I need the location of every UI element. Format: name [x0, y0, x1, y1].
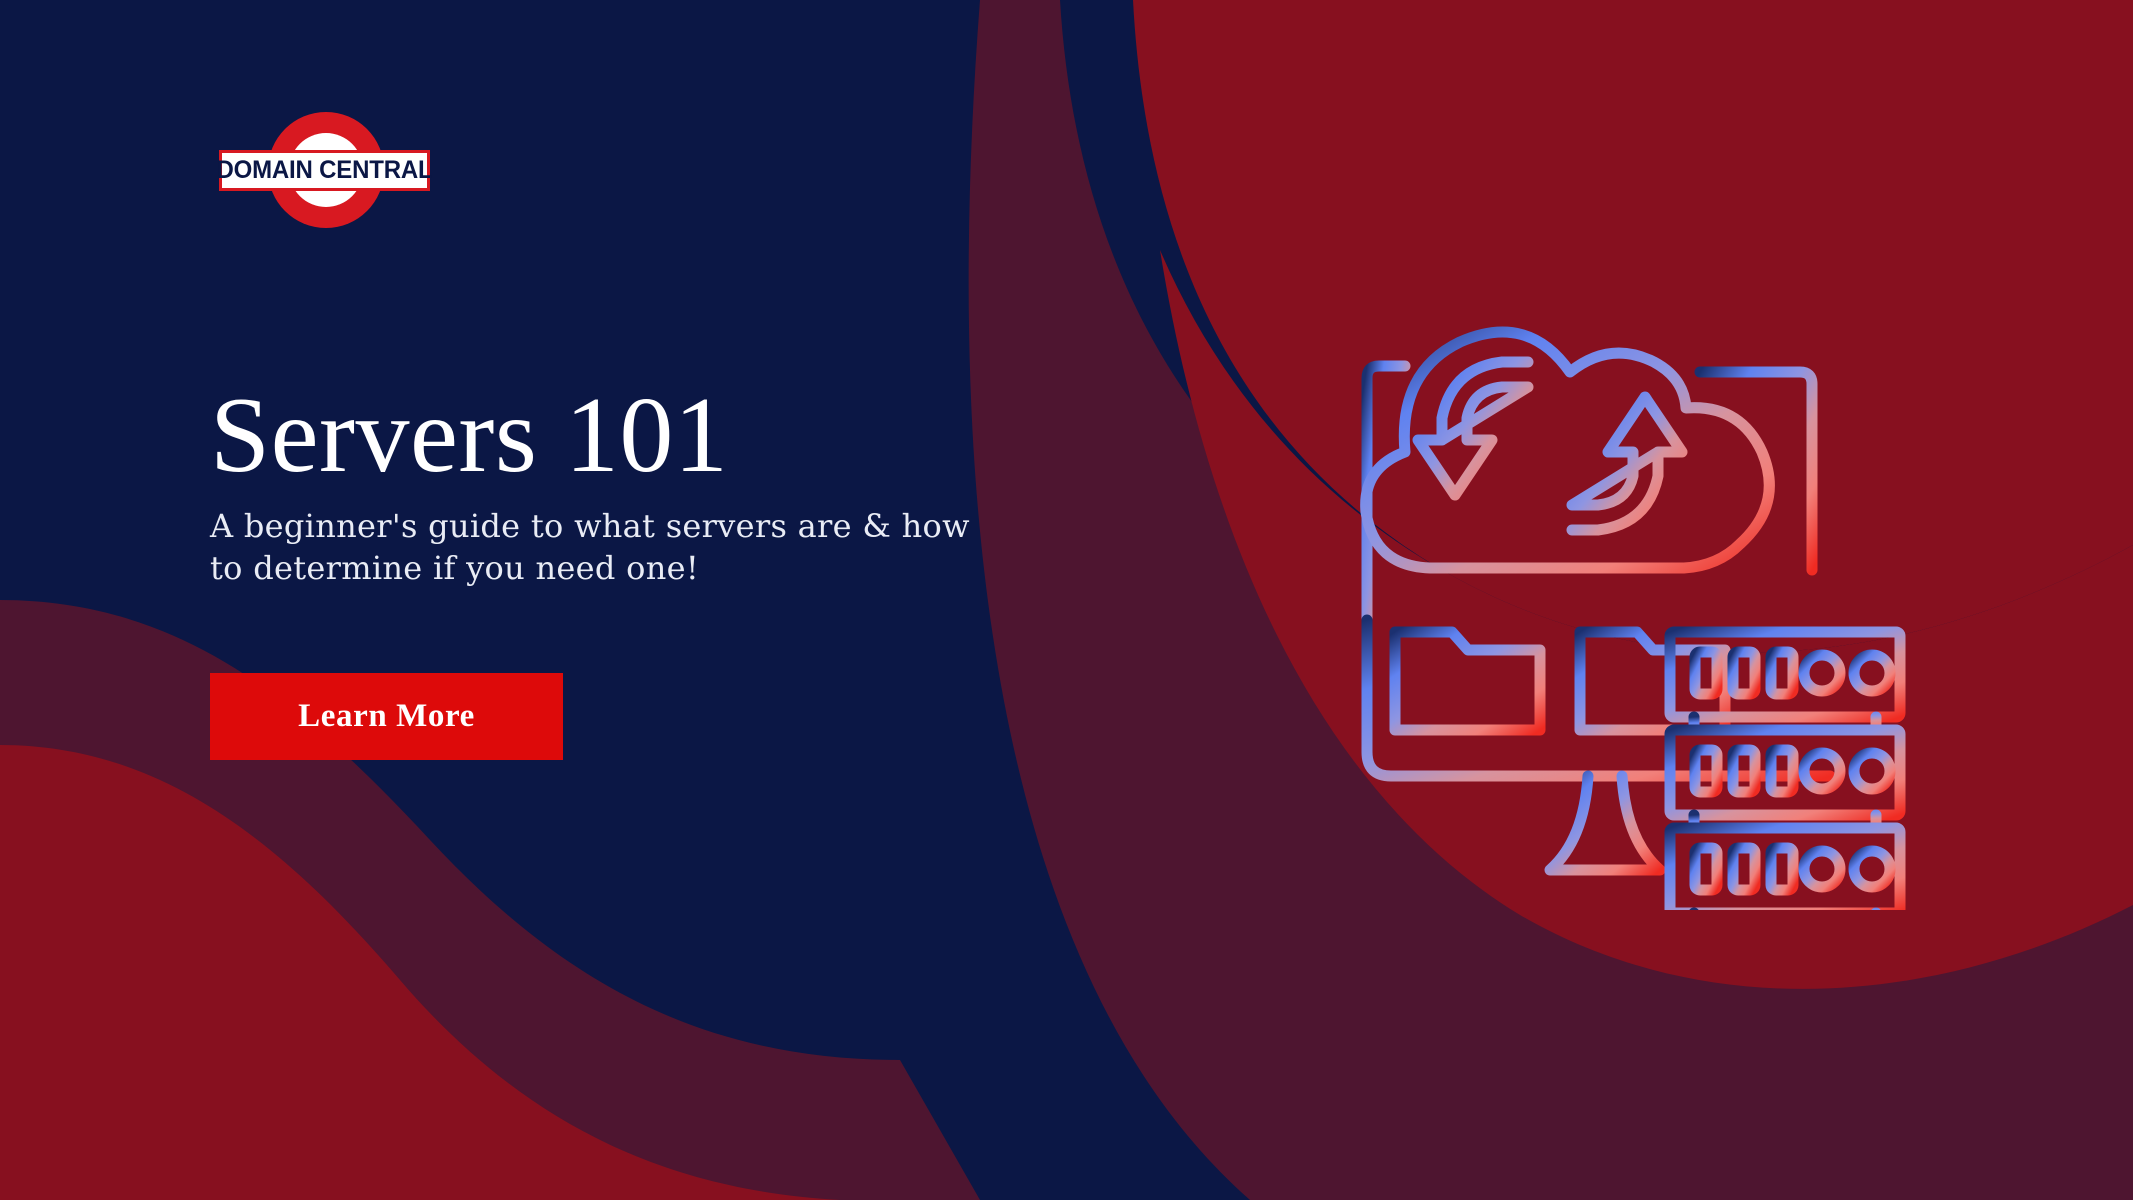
connector-right-line — [1700, 372, 1812, 570]
server-slot — [1733, 848, 1755, 890]
page-subtitle: A beginner's guide to what servers are &… — [210, 506, 1010, 589]
monitor-icon — [1367, 620, 1830, 776]
hero-copy: Servers 101 A beginner's guide to what s… — [210, 380, 1110, 590]
server-slot — [1771, 848, 1793, 890]
sync-arrow-up-icon — [1572, 397, 1682, 530]
roundel-bar: DOMAIN CENTRAL — [219, 150, 430, 191]
connector-left-line — [1367, 366, 1405, 620]
learn-more-button[interactable]: Learn More — [210, 673, 563, 760]
page-title: Servers 101 — [210, 380, 1110, 492]
monitor-stand-icon — [1550, 776, 1660, 870]
server-slot — [1695, 848, 1717, 890]
cloud-server-illustration — [1270, 300, 1910, 910]
server-dial — [1804, 655, 1840, 691]
server-dial — [1854, 851, 1890, 887]
sync-arrow-down-icon — [1418, 362, 1528, 495]
server-unit — [1670, 828, 1900, 910]
hero-banner: DOMAIN CENTRAL Servers 101 A beginner's … — [0, 0, 2133, 1200]
server-slot — [1695, 652, 1717, 694]
server-slot — [1771, 652, 1793, 694]
brand-logo[interactable]: DOMAIN CENTRAL — [200, 100, 440, 260]
server-dial — [1854, 655, 1890, 691]
server-dial — [1804, 851, 1840, 887]
server-dial — [1854, 753, 1890, 789]
brand-logo-text: DOMAIN CENTRAL — [217, 156, 433, 185]
server-slot — [1733, 652, 1755, 694]
folder-icon — [1395, 632, 1540, 730]
